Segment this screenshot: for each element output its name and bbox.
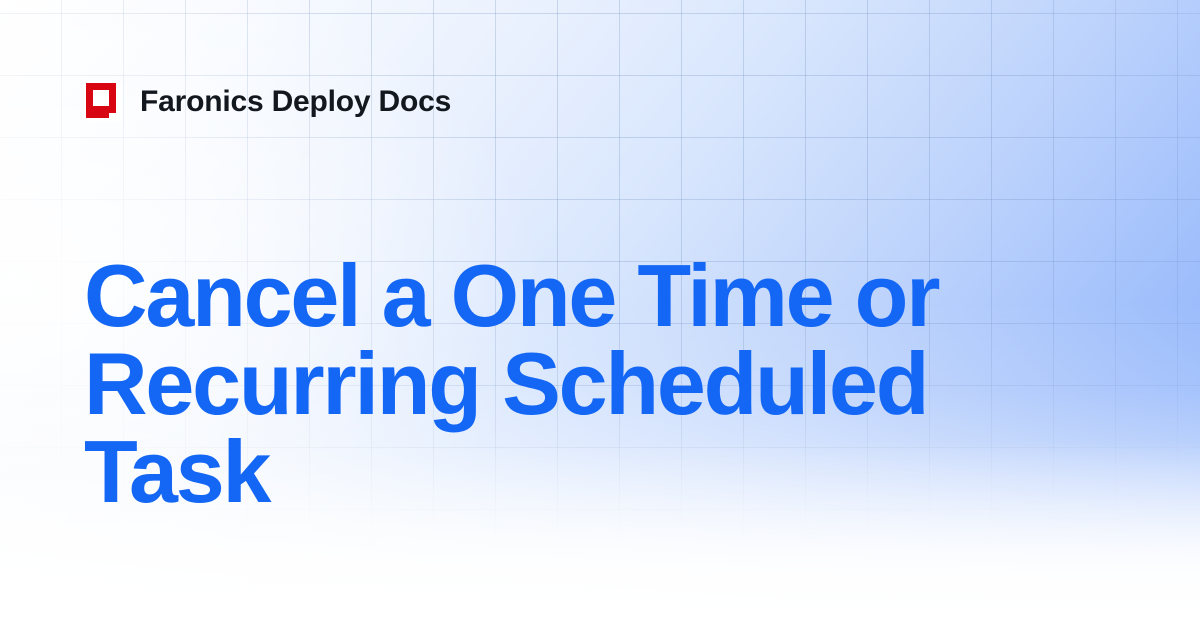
- brand-header[interactable]: Faronics Deploy Docs: [84, 82, 451, 122]
- faronics-square-logo-icon: [84, 82, 122, 122]
- page-title: Cancel a One Time or Recurring Scheduled…: [84, 252, 984, 516]
- brand-title: Faronics Deploy Docs: [140, 87, 451, 117]
- og-share-card: Faronics Deploy Docs Cancel a One Time o…: [0, 0, 1200, 630]
